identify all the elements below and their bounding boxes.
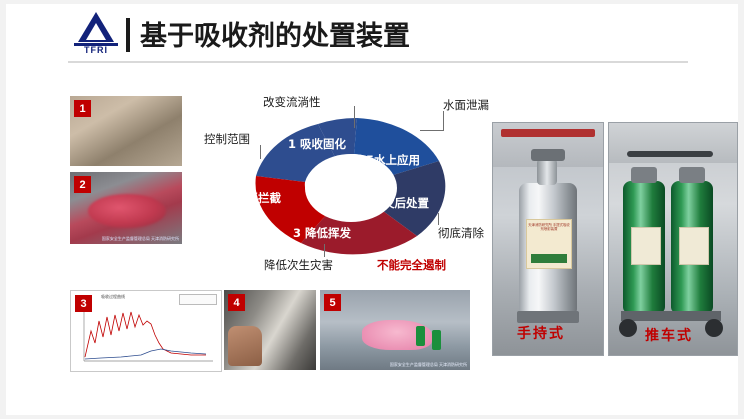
trolley-valve-left <box>631 167 657 183</box>
callout-lead-2b <box>420 130 444 131</box>
photo-3-plot <box>71 291 221 371</box>
photo-3-chart: 吸收过程曲线 3 <box>70 290 222 372</box>
photo-4-hand <box>228 326 262 366</box>
callout-complete-removal: 彻底清除 <box>438 225 484 241</box>
photo-5-number: 5 <box>324 294 341 311</box>
trolley-label-right <box>679 227 709 265</box>
handheld-label: 天津消防研究所 手提式吸收剂喷射装置 <box>526 219 572 269</box>
slide: TFRI 基于吸收剂的处置装置 1 2 国家安全生产监督管理总局 天津消防研究所… <box>6 4 738 415</box>
handheld-label-text: 天津消防研究所 手提式吸收剂喷射装置 <box>527 220 571 231</box>
photo-4: 4 <box>224 290 316 370</box>
trolley-label-left <box>631 227 661 265</box>
trolley-valve-right <box>679 167 705 183</box>
photo-handheld-device: 天津消防研究所 手提式吸收剂喷射装置 手持式 <box>492 122 604 356</box>
callout-reduce-secondary: 降低次生灾害 <box>264 257 333 273</box>
donut-label-5: 5水上应用 <box>366 152 420 168</box>
trolley-wheel-right <box>705 319 723 337</box>
callout-lead-1 <box>354 106 355 128</box>
callout-change-flow: 改变流淌性 <box>263 94 321 110</box>
photo-2-spill <box>88 194 166 228</box>
donut-label-4: 4 灾后处置 <box>371 195 429 211</box>
page-title: 基于吸收剂的处置装置 <box>140 14 410 53</box>
donut-chart <box>248 108 454 268</box>
donut-label-3: 3 降低挥发 <box>293 225 351 241</box>
photo-4-number: 4 <box>228 294 245 311</box>
trolley-caption: 推车式 <box>645 325 693 345</box>
trolley-bg-top <box>609 123 737 163</box>
trolley-wheel-left <box>619 319 637 337</box>
handheld-base <box>517 311 579 323</box>
handheld-valve <box>531 149 565 161</box>
logo-text: TFRI <box>68 45 124 55</box>
photo-2: 2 国家安全生产监督管理总局 天津消防研究所 <box>70 172 182 244</box>
handheld-neck <box>537 159 557 185</box>
callout-cannot-fully-contain: 不能完全遏制 <box>377 257 446 273</box>
header-divider <box>68 61 688 63</box>
photo-1-number: 1 <box>74 100 91 117</box>
callout-control-range: 控制范围 <box>204 131 250 147</box>
photo-5: 5 国家安全生产监督管理总局 天津消防研究所 <box>320 290 470 370</box>
photo-1: 1 <box>70 96 182 166</box>
callout-water-leak: 水面泄漏 <box>443 97 489 113</box>
photo-5-worker-b <box>432 330 441 350</box>
trolley-base <box>621 311 721 321</box>
trolley-handle <box>627 151 713 157</box>
handheld-caption: 手持式 <box>517 323 565 343</box>
donut-label-1: 1 吸收固化 <box>288 136 346 152</box>
slide-header: TFRI 基于吸收剂的处置装置 <box>6 4 738 62</box>
callout-lead-4 <box>438 213 439 225</box>
photo-5-watermark: 国家安全生产监督管理总局 天津消防研究所 <box>390 362 467 367</box>
logo-triangle-inner-icon <box>86 23 106 40</box>
photo-3-number: 3 <box>75 295 92 312</box>
donut-label-2: 2 流淌拦截 <box>223 190 281 206</box>
photo-2-watermark: 国家安全生产监督管理总局 天津消防研究所 <box>102 236 179 241</box>
handheld-label-green-bar <box>531 254 567 263</box>
callout-lead-2 <box>443 111 444 131</box>
title-accent-bar <box>126 18 130 52</box>
handheld-red-bar <box>501 129 595 137</box>
photo-trolley-device: 推车式 <box>608 122 738 356</box>
callout-lead-5 <box>324 244 325 257</box>
photo-5-worker-a <box>416 326 425 346</box>
tfri-logo: TFRI <box>68 12 124 56</box>
callout-lead-3 <box>260 145 261 159</box>
photo-2-number: 2 <box>74 176 91 193</box>
